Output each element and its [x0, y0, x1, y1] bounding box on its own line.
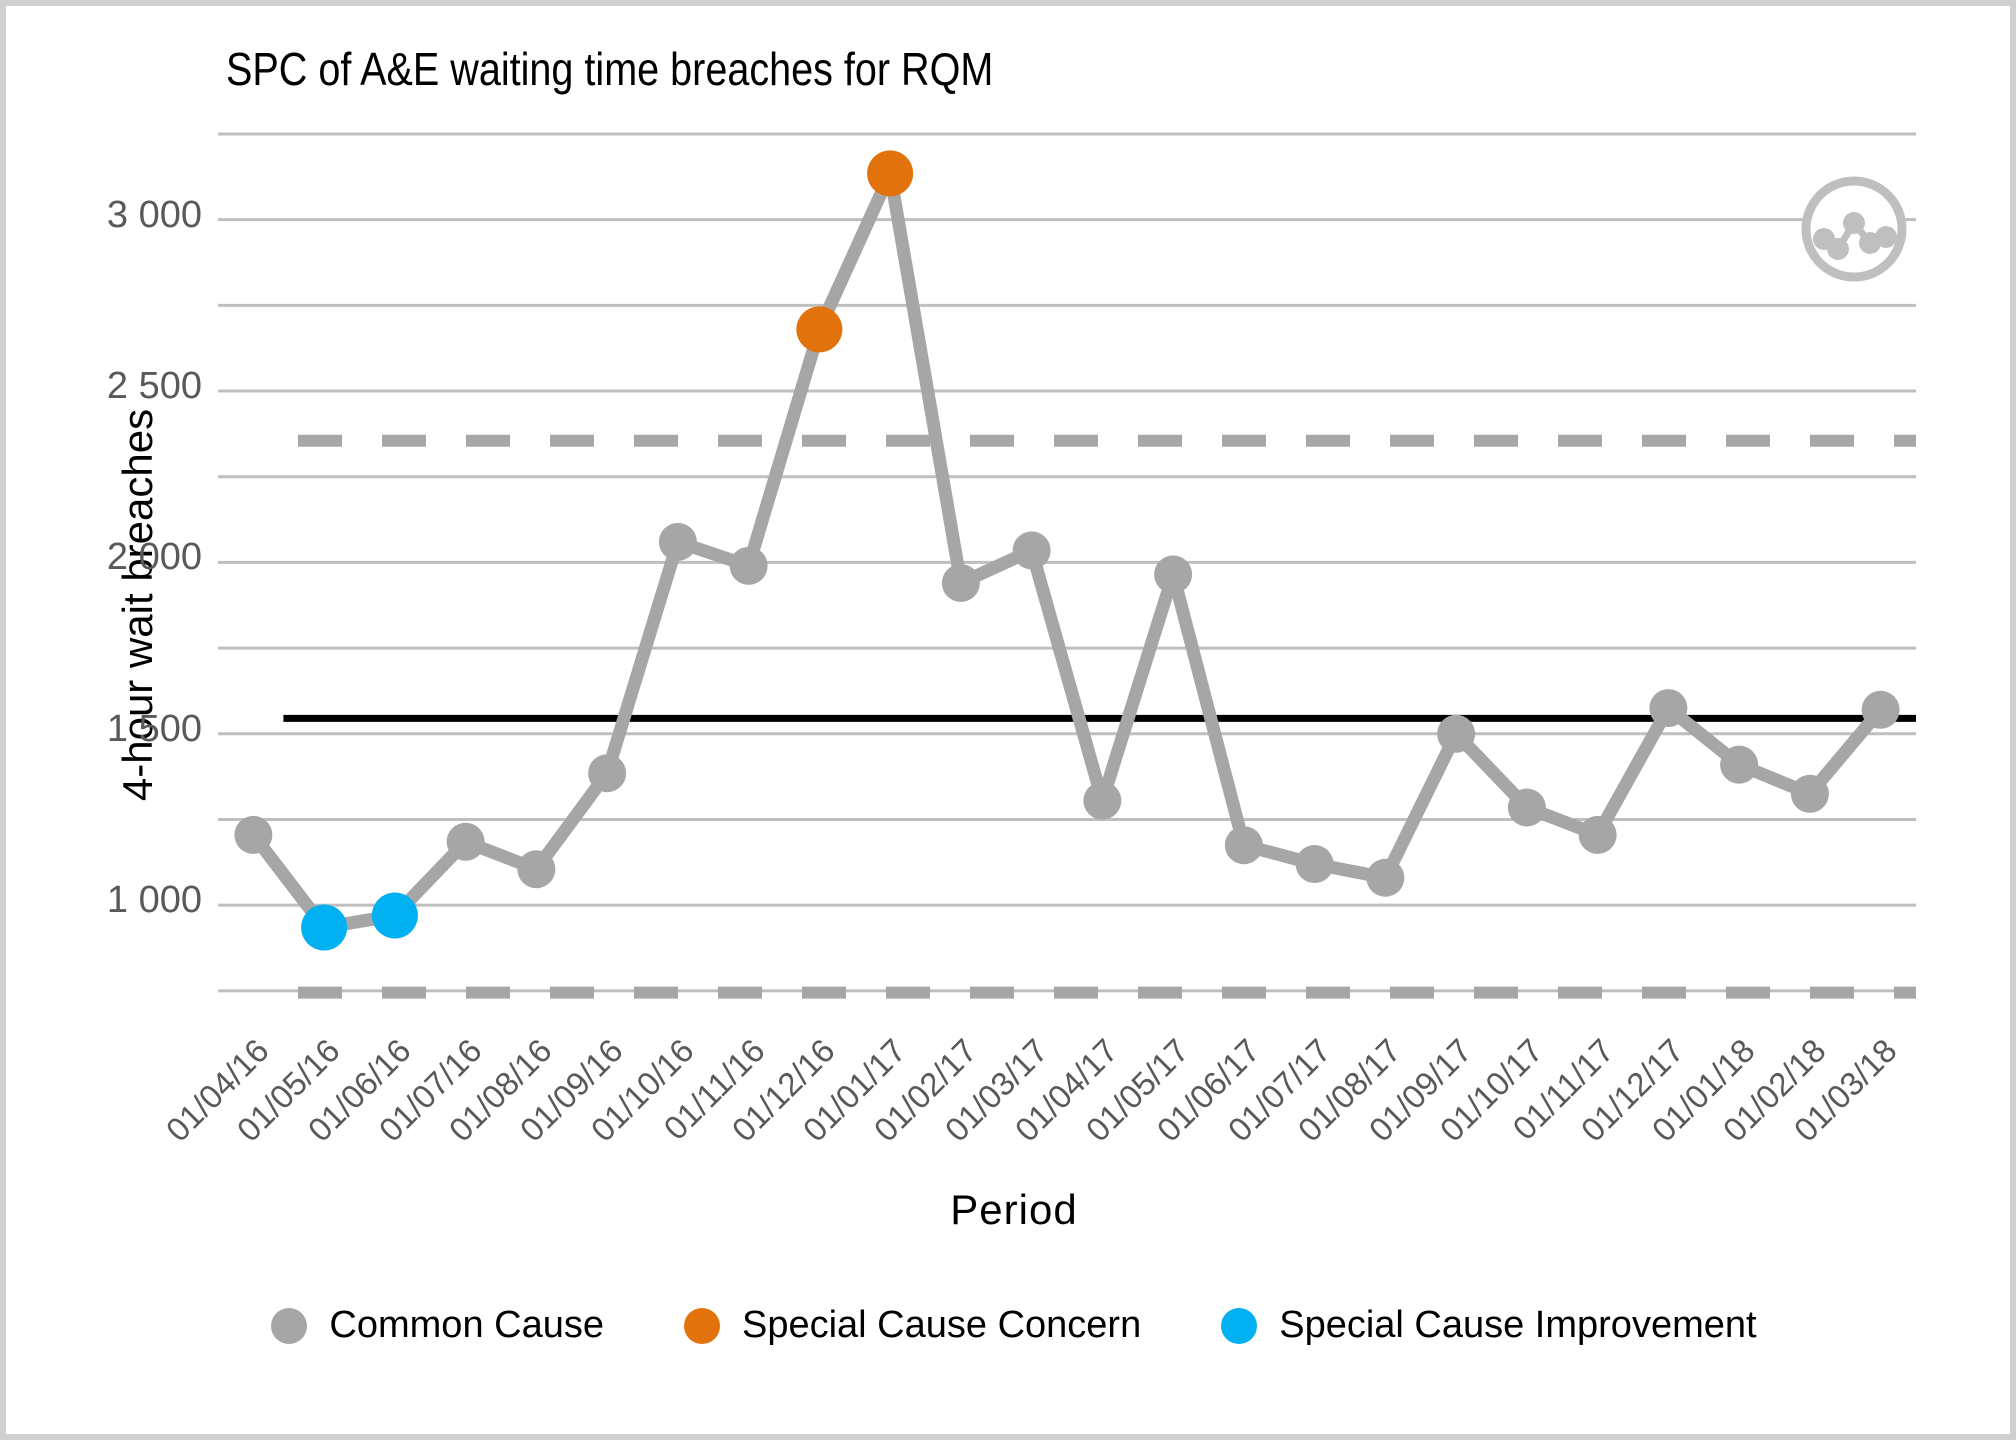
data-point-common[interactable] — [234, 816, 272, 854]
data-point-common[interactable] — [588, 754, 626, 792]
data-point-common[interactable] — [730, 547, 768, 585]
chart-frame: SPC of A&E waiting time breaches for RQM… — [0, 0, 2016, 1440]
chart-legend: Common Cause Special Cause Concern Speci… — [6, 1304, 2016, 1347]
data-point-common[interactable] — [1296, 845, 1334, 883]
data-point-common[interactable] — [659, 523, 697, 561]
data-point-common[interactable] — [1862, 691, 1900, 729]
spc-chart-logo-icon — [1806, 181, 1902, 277]
data-point-concern[interactable] — [796, 306, 842, 352]
legend-item-common-cause[interactable]: Common Cause — [271, 1304, 684, 1347]
data-point-common[interactable] — [1013, 531, 1051, 569]
legend-label-special-cause-improvement: Special Cause Improvement — [1279, 1304, 1756, 1347]
data-points — [234, 150, 1899, 950]
data-point-common[interactable] — [1366, 859, 1404, 897]
data-point-common[interactable] — [942, 564, 980, 602]
data-point-common[interactable] — [1791, 775, 1829, 813]
data-point-common[interactable] — [1437, 715, 1475, 753]
legend-label-special-cause-concern: Special Cause Concern — [742, 1304, 1141, 1347]
data-point-common[interactable] — [1508, 788, 1546, 826]
gridlines — [218, 134, 1916, 991]
data-point-common[interactable] — [1225, 826, 1263, 864]
plot-area — [6, 6, 2016, 1446]
legend-label-common-cause: Common Cause — [329, 1304, 604, 1347]
data-point-common[interactable] — [517, 850, 555, 888]
legend-item-special-cause-improvement[interactable]: Special Cause Improvement — [1221, 1304, 1756, 1347]
data-point-improvement[interactable] — [301, 904, 347, 950]
legend-dot-common-cause — [271, 1308, 307, 1344]
legend-item-special-cause-concern[interactable]: Special Cause Concern — [684, 1304, 1221, 1347]
legend-dot-special-cause-improvement — [1221, 1308, 1257, 1344]
data-point-common[interactable] — [1154, 555, 1192, 593]
data-point-improvement[interactable] — [372, 892, 418, 938]
data-line — [253, 173, 1880, 927]
data-point-common[interactable] — [1649, 689, 1687, 727]
data-point-common[interactable] — [1083, 782, 1121, 820]
data-point-common[interactable] — [447, 823, 485, 861]
data-point-common[interactable] — [1579, 816, 1617, 854]
data-point-concern[interactable] — [867, 150, 913, 196]
legend-dot-special-cause-concern — [684, 1308, 720, 1344]
data-point-common[interactable] — [1720, 746, 1758, 784]
